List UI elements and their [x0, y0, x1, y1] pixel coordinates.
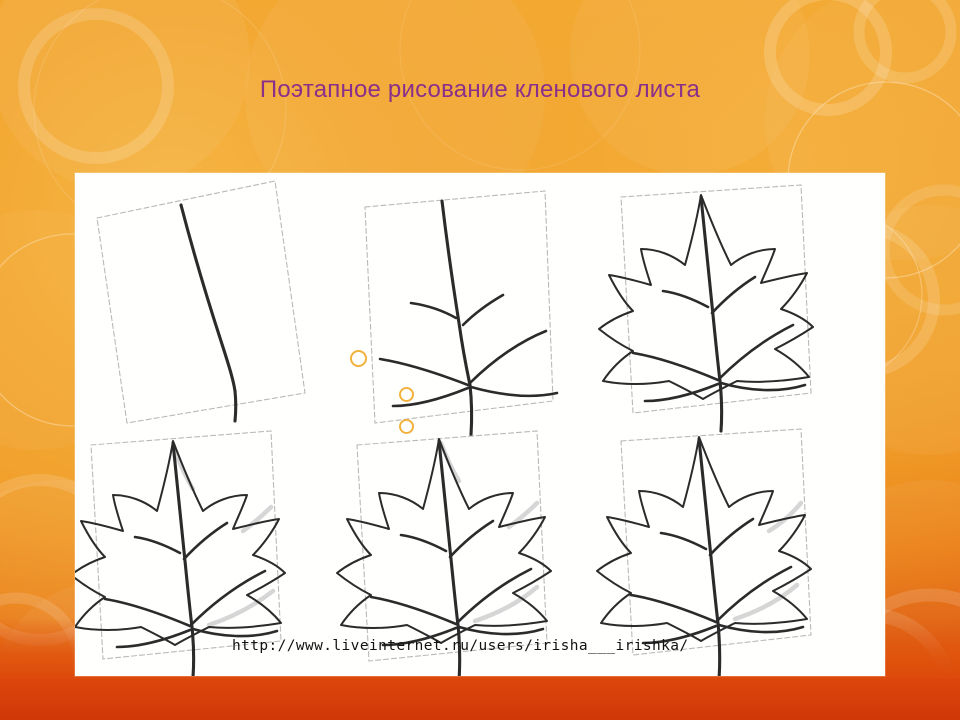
step-by-step-drawing [75, 173, 885, 676]
step-1-drawing [97, 181, 305, 423]
background-bottom-strip [0, 678, 960, 720]
slide-title: Поэтапное рисование кленового листа [0, 76, 960, 104]
bullet-ring-2-icon [399, 387, 414, 402]
slide-canvas: Поэтапное рисование кленового листа [0, 0, 960, 720]
bullet-ring-1-icon [350, 350, 367, 367]
tutorial-image-panel: http://www.liveinternet.ru/users/irisha_… [75, 173, 885, 676]
bullet-ring-3-icon [399, 419, 414, 434]
step-2-drawing [365, 191, 557, 435]
step-3-drawing [599, 185, 813, 431]
source-url-caption: http://www.liveinternet.ru/users/irisha_… [232, 638, 689, 654]
